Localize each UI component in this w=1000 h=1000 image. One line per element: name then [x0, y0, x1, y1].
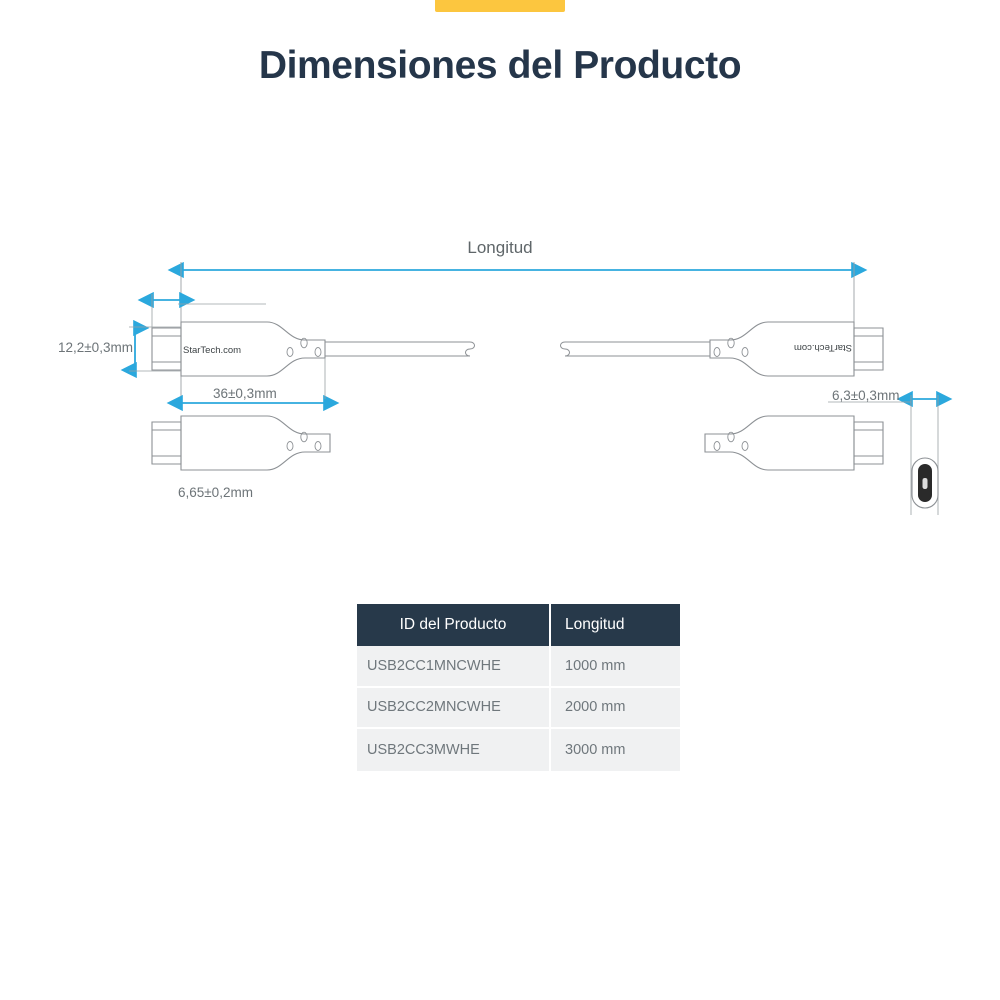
table-row: USB2CC1MNCWHE 1000 mm: [357, 646, 680, 688]
product-specs-table: ID del Producto Longitud USB2CC1MNCWHE 1…: [357, 604, 680, 771]
connector-markings-lower-left: [287, 432, 321, 450]
table-body: USB2CC1MNCWHE 1000 mm USB2CC2MNCWHE 2000…: [357, 646, 680, 771]
accent-bar: [435, 0, 565, 12]
usb-c-end-view-icon: [912, 458, 938, 508]
connector-markings-upper-right: [714, 338, 748, 356]
dim-label-connector-width: 6,3±0,3mm: [832, 388, 899, 403]
connector-markings-lower-right: [714, 432, 748, 450]
table-header-row: ID del Producto Longitud: [357, 604, 680, 646]
product-dimensions-page: Dimensiones del Producto Longitud 6,65±0…: [0, 0, 1000, 1000]
cell-length: 2000 mm: [551, 688, 680, 730]
product-dimension-diagram: Longitud 6,65±0,2mm 12,2±0,3mm 36±0,3mm …: [0, 200, 1000, 550]
cell-product-id: USB2CC3MWHE: [357, 729, 549, 771]
brand-text-upper-right: StarTech.com: [794, 342, 852, 353]
cell-length: 1000 mm: [551, 646, 680, 688]
dim-arrow-plug-height: [129, 327, 181, 371]
cell-product-id: USB2CC2MNCWHE: [357, 688, 549, 730]
overall-length-label: Longitud: [0, 238, 1000, 258]
connector-lower-left: [152, 416, 330, 470]
dim-arrow-plug-depth: [152, 294, 266, 328]
dim-label-connector-length: 36±0,3mm: [213, 386, 277, 401]
table-header-length: Longitud: [551, 604, 680, 646]
dim-label-plug-depth: 6,65±0,2mm: [178, 485, 253, 500]
connector-lower-right: [705, 416, 883, 470]
cell-length: 3000 mm: [551, 729, 680, 771]
table-header-product-id: ID del Producto: [357, 604, 549, 646]
cell-product-id: USB2CC1MNCWHE: [357, 646, 549, 688]
table-row: USB2CC2MNCWHE 2000 mm: [357, 688, 680, 730]
dim-label-plug-height: 12,2±0,3mm: [58, 340, 133, 355]
connector-markings-upper-left: [287, 338, 321, 356]
overall-length-arrow: [181, 262, 854, 400]
brand-text-upper-left: StarTech.com: [183, 345, 241, 356]
page-title: Dimensiones del Producto: [0, 44, 1000, 88]
table-row: USB2CC3MWHE 3000 mm: [357, 729, 680, 771]
